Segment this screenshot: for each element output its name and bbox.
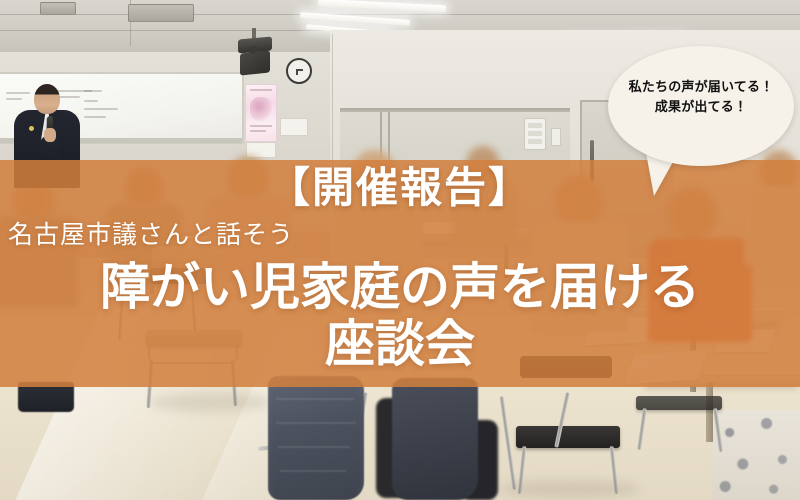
- poster-text: [250, 130, 266, 132]
- poster-artwork: [250, 97, 272, 121]
- floor-shadow: [150, 392, 270, 412]
- ceiling-vent: [128, 4, 194, 22]
- wall-notice: [280, 118, 308, 136]
- floor-shadow: [500, 480, 640, 498]
- coat-on-chair: [392, 378, 478, 500]
- whiteboard-writing: [84, 108, 118, 110]
- speech-bubble-line2: 成果が出てる！: [608, 98, 794, 118]
- poster-text: [250, 89, 272, 91]
- table-leg: [706, 382, 713, 442]
- presenter-head: [34, 84, 60, 114]
- light-switch-panel[interactable]: [524, 118, 546, 150]
- chair-seat: [636, 396, 722, 410]
- ceiling-seam: [0, 14, 800, 15]
- presenter-hand: [44, 128, 56, 142]
- whiteboard-writing: [84, 100, 98, 102]
- whiteboard-writing: [84, 116, 106, 118]
- coat-on-chair: [268, 376, 364, 500]
- wall-plate: [551, 128, 561, 146]
- event-report-banner: 【開催報告】 名古屋市議さんと話そう 障がい児家庭の声を届ける 座談会 私たちの…: [0, 0, 800, 500]
- whiteboard-writing: [84, 90, 102, 92]
- speech-bubble-text: 私たちの声が届いてる！ 成果が出てる！: [608, 78, 794, 118]
- poster-text: [250, 125, 272, 127]
- floor-mat: [712, 410, 800, 500]
- wall-poster: [245, 84, 277, 142]
- speech-bubble: 私たちの声が届いてる！ 成果が出てる！: [608, 46, 794, 196]
- lapel-badge: [29, 126, 34, 131]
- speech-bubble-line1: 私たちの声が届いてる！: [608, 78, 794, 98]
- ceiling-vent: [40, 2, 76, 15]
- whiteboard-writing: [6, 92, 30, 94]
- wall-clock: [286, 58, 312, 84]
- chair-seat: [516, 426, 620, 448]
- wall-speaker: [240, 50, 270, 75]
- whiteboard-writing: [6, 98, 22, 100]
